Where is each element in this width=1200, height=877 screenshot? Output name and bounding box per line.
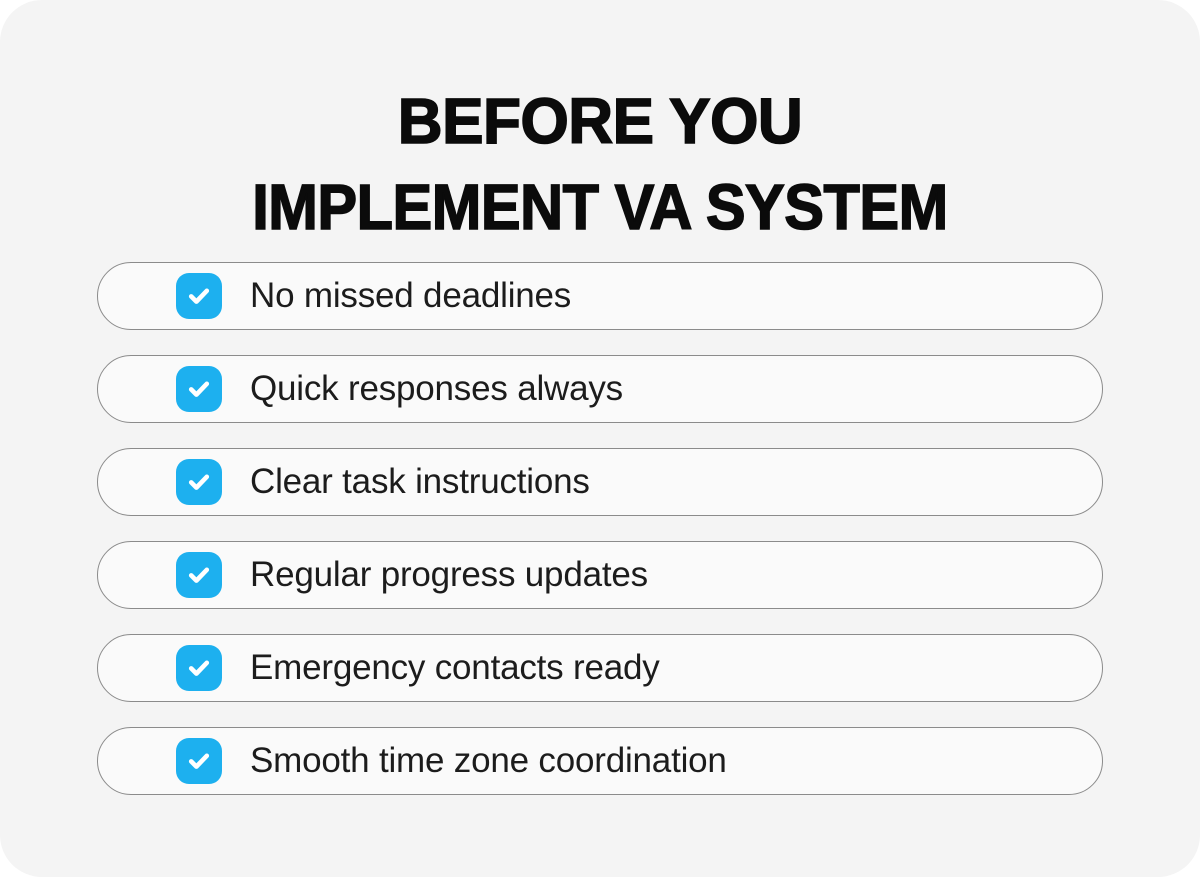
list-item[interactable]: Quick responses always (97, 355, 1103, 423)
list-item[interactable]: Emergency contacts ready (97, 634, 1103, 702)
list-item-label: Emergency contacts ready (250, 648, 660, 688)
checkbox-checked-icon[interactable] (176, 645, 222, 691)
checkbox-checked-icon[interactable] (176, 738, 222, 784)
list-item[interactable]: Regular progress updates (97, 541, 1103, 609)
list-item[interactable]: Smooth time zone coordination (97, 727, 1103, 795)
checkbox-checked-icon[interactable] (176, 459, 222, 505)
list-item-label: No missed deadlines (250, 276, 571, 316)
checklist-card: BEFORE YOU IMPLEMENT VA SYSTEM No missed… (0, 0, 1200, 877)
checkbox-checked-icon[interactable] (176, 366, 222, 412)
title-line-2: IMPLEMENT VA SYSTEM (42, 164, 1158, 250)
list-item-label: Smooth time zone coordination (250, 741, 727, 781)
list-item-label: Clear task instructions (250, 462, 590, 502)
list-item-label: Regular progress updates (250, 555, 648, 595)
checkbox-checked-icon[interactable] (176, 552, 222, 598)
checkbox-checked-icon[interactable] (176, 273, 222, 319)
title-line-1: BEFORE YOU (18, 78, 1182, 164)
checklist: No missed deadlines Quick responses alwa… (97, 262, 1103, 795)
list-item-label: Quick responses always (250, 369, 623, 409)
list-item[interactable]: No missed deadlines (97, 262, 1103, 330)
list-item[interactable]: Clear task instructions (97, 448, 1103, 516)
page-title: BEFORE YOU IMPLEMENT VA SYSTEM (0, 78, 1200, 250)
